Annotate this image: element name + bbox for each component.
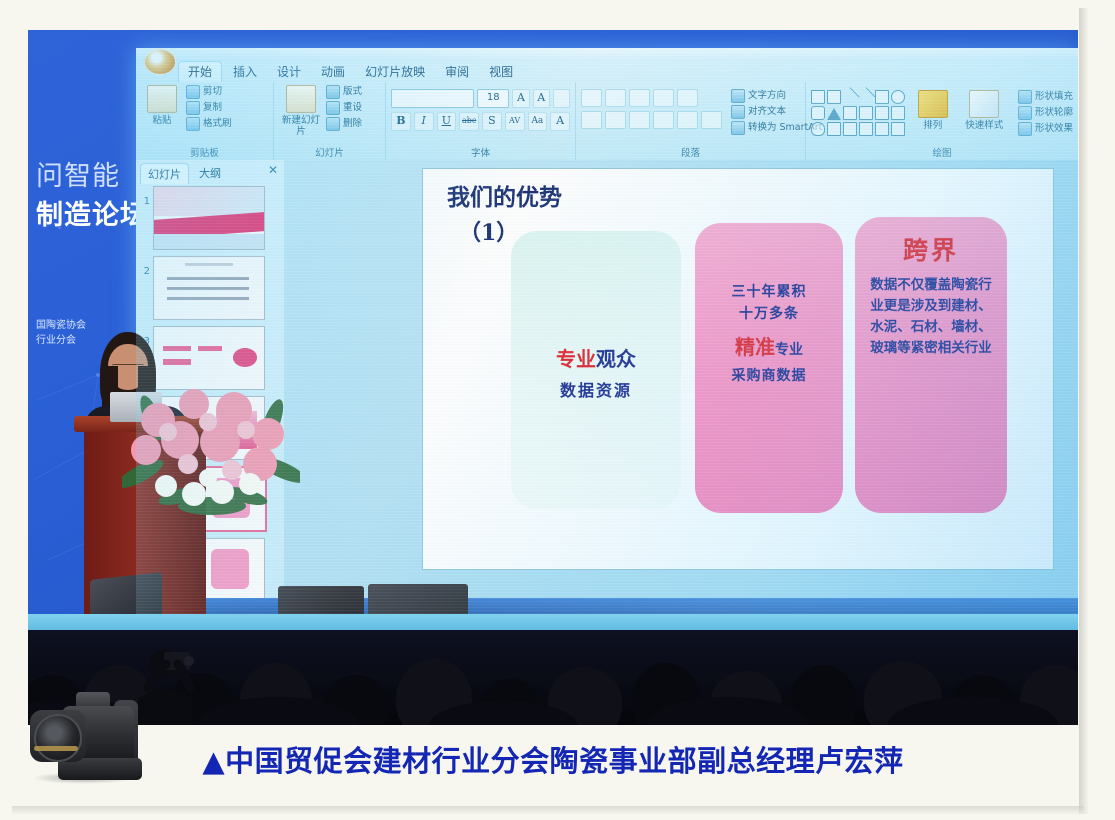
ribbon-tab-view[interactable]: 视图	[480, 62, 522, 82]
thumbnail-number: 2	[140, 256, 150, 277]
ribbon-group-clipboard: 粘贴 剪切 复制	[136, 82, 274, 160]
distribute-button[interactable]	[677, 111, 698, 129]
shape-chevron-icon[interactable]	[859, 122, 873, 136]
shape-triangle-icon[interactable]	[827, 106, 841, 120]
shape-effects-label: 形状效果	[1035, 123, 1073, 135]
ribbon-group-drawing: 排列 快速样式 形状填充	[806, 82, 1078, 160]
scissors-icon	[186, 85, 200, 99]
ribbon-group-font: 18 A A B I U abc S AV	[386, 82, 576, 160]
format-painter-button[interactable]: 格式刷	[186, 117, 232, 131]
cut-label: 剪切	[203, 86, 222, 98]
shape-freeform-icon[interactable]	[827, 122, 841, 136]
shape-outline-label: 形状轮廓	[1035, 107, 1073, 119]
photo-caption: ▲中国贸促会建材行业分会陶瓷事业部副总经理卢宏萍	[28, 728, 1078, 790]
ribbon-tab-slideshow[interactable]: 幻灯片放映	[356, 62, 434, 82]
thumbnail-preview[interactable]	[153, 186, 265, 250]
caption-text: ▲中国贸促会建材行业分会陶瓷事业部副总经理卢宏萍	[202, 738, 903, 780]
align-text-icon	[731, 105, 745, 119]
card1-subtext: 数据资源	[511, 377, 681, 401]
slide-card-professional-audience[interactable]: 专业观众 数据资源	[511, 231, 681, 509]
columns-button[interactable]	[701, 111, 722, 129]
layout-icon	[326, 85, 340, 99]
powerpoint-ribbon: 开始 插入 设计 动画 幻灯片放映 审阅 视图 粘贴	[136, 48, 1078, 160]
shape-curve-icon[interactable]	[843, 122, 857, 136]
layout-button[interactable]: 版式	[326, 85, 362, 99]
cut-button[interactable]: 剪切	[186, 85, 232, 99]
office-button-icon[interactable]	[144, 49, 176, 75]
align-text-label: 对齐文本	[748, 106, 786, 118]
shape-elbow-icon[interactable]	[843, 106, 857, 120]
conference-photograph: 问智能 制造论坛 国陶瓷协会 行业分会 开始 插入 设计 动画 幻灯片放映 审阅…	[28, 30, 1078, 725]
ribbon-tab-insert[interactable]: 插入	[224, 62, 266, 82]
align-center-button[interactable]	[605, 111, 626, 129]
camera-lens-ring	[34, 746, 78, 751]
slide-card-crossover[interactable]: 跨界 数据不仅覆盖陶瓷行业更是涉及到建材、水泥、石材、墙材、玻璃等紧密相关行业	[855, 217, 1007, 513]
paragraph-group-label: 段落	[576, 145, 805, 159]
underline-button[interactable]: U	[437, 112, 457, 131]
decrease-indent-button[interactable]	[629, 89, 650, 107]
shapes-gallery[interactable]	[811, 90, 905, 136]
delete-slide-button[interactable]: 删除	[326, 117, 362, 131]
card2-heading-red: 精准	[735, 335, 775, 359]
reset-label: 重设	[343, 102, 362, 114]
shape-cloud-icon[interactable]	[811, 122, 825, 136]
card1-heading-blue: 观众	[596, 347, 636, 371]
ribbon-group-paragraph: 文字方向 对齐文本 转换为 SmartArt	[576, 82, 806, 160]
format-painter-label: 格式刷	[203, 118, 232, 130]
quick-styles-label: 快速样式	[965, 120, 1003, 131]
font-name-input[interactable]	[391, 89, 474, 108]
shape-effects-button[interactable]: 形状效果	[1018, 122, 1073, 136]
dslr-camera-icon	[18, 684, 146, 792]
paste-label: 粘贴	[152, 115, 171, 126]
shape-right-arrow-icon[interactable]	[875, 106, 889, 120]
shape-outline-button[interactable]: 形状轮廓	[1018, 106, 1073, 120]
new-slide-icon	[286, 85, 316, 113]
frame-shadow-right	[1079, 8, 1089, 814]
smartart-icon	[731, 121, 745, 135]
slide-editing-stage: 我们的优势 （1） 专业观众 数据资源 三十年累积 十万多条 精准专业 采购商数…	[284, 160, 1078, 614]
arrange-button[interactable]: 排列	[912, 90, 954, 131]
shape-connector-icon[interactable]	[859, 106, 873, 120]
thumbnail-item[interactable]: 2	[136, 253, 284, 323]
card3-title: 跨界	[855, 231, 1007, 267]
paste-icon	[147, 85, 177, 113]
shape-fill-label: 形状填充	[1035, 91, 1073, 103]
shape-arrow-icon[interactable]	[856, 87, 876, 107]
new-slide-button[interactable]: 新建幻灯片	[279, 85, 323, 137]
shape-roundrect-icon[interactable]	[811, 106, 825, 120]
quick-styles-icon	[969, 90, 999, 118]
ribbon-group-slides: 新建幻灯片 版式 重设	[274, 82, 386, 160]
paste-button[interactable]: 粘贴	[141, 85, 183, 126]
increase-indent-button[interactable]	[653, 89, 674, 107]
paintbrush-icon	[186, 117, 200, 131]
shape-textbox-icon[interactable]	[827, 90, 841, 104]
card1-heading: 专业观众	[511, 343, 681, 372]
thumbnail-number: 1	[140, 186, 150, 207]
current-slide[interactable]: 我们的优势 （1） 专业观众 数据资源 三十年累积 十万多条 精准专业 采购商数…	[422, 168, 1054, 570]
camera-lens-glass	[34, 714, 82, 762]
card3-body: 数据不仅覆盖陶瓷行业更是涉及到建材、水泥、石材、墙材、玻璃等紧密相关行业	[855, 275, 1007, 359]
ribbon-groups: 粘贴 剪切 复制	[136, 82, 1078, 160]
character-spacing-button[interactable]: AV	[505, 112, 525, 131]
font-group-label: 字体	[386, 145, 575, 159]
text-direction-icon	[731, 89, 745, 103]
arrange-icon	[918, 90, 948, 118]
decrease-font-size-button[interactable]: A	[533, 89, 550, 108]
card1-heading-red: 专业	[556, 347, 596, 371]
card2-line-4: 采购商数据	[695, 365, 843, 385]
bold-button[interactable]: B	[391, 112, 411, 131]
bullets-button[interactable]	[581, 89, 602, 107]
clear-formatting-button[interactable]	[553, 89, 570, 108]
close-pane-icon[interactable]: ✕	[268, 163, 278, 177]
flower-arrangement	[122, 378, 300, 530]
quick-styles-button[interactable]: 快速样式	[961, 90, 1008, 131]
slide-title: 我们的优势	[447, 183, 562, 213]
change-case-button[interactable]: Aa	[528, 112, 548, 131]
font-color-button[interactable]: A	[550, 112, 570, 131]
increase-font-size-button[interactable]: A	[512, 89, 529, 108]
ribbon-tab-animations[interactable]: 动画	[312, 62, 354, 82]
card2-line-1: 三十年累积	[695, 281, 843, 301]
new-slide-label: 新建幻灯片	[279, 115, 323, 137]
arrange-label: 排列	[923, 120, 942, 131]
shape-outline-icon	[1018, 106, 1032, 120]
pane-tab-outline[interactable]: 大纲	[192, 163, 228, 183]
thumbnail-preview[interactable]	[153, 256, 265, 320]
shape-square-icon[interactable]	[875, 90, 889, 104]
delete-icon	[326, 117, 340, 131]
pane-tab-bar: 幻灯片 大纲 ✕	[136, 160, 284, 183]
strikethrough-button[interactable]: abc	[459, 112, 479, 131]
copy-icon	[186, 101, 200, 115]
shape-fill-button[interactable]: 形状填充	[1018, 90, 1073, 104]
photo-frame: 问智能 制造论坛 国陶瓷协会 行业分会 开始 插入 设计 动画 幻灯片放映 审阅…	[0, 0, 1115, 820]
italic-button[interactable]: I	[414, 112, 434, 131]
copy-label: 复制	[203, 102, 222, 114]
frame-shadow-bottom	[12, 806, 1084, 815]
shape-rect-icon[interactable]	[811, 90, 825, 104]
drawing-group-label: 绘图	[806, 145, 1078, 159]
layout-label: 版式	[343, 86, 362, 98]
shape-down-arrow-icon[interactable]	[891, 106, 905, 120]
font-size-input[interactable]: 18	[477, 89, 509, 108]
shape-right-brace-icon[interactable]	[891, 122, 905, 136]
reset-button[interactable]: 重设	[326, 101, 362, 115]
shape-oval-icon[interactable]	[891, 90, 905, 104]
slide-card-precise-buyer-data[interactable]: 三十年累积 十万多条 精准专业 采购商数据	[695, 223, 843, 513]
slides-group-label: 幻灯片	[274, 145, 385, 159]
shadow-button[interactable]: S	[482, 112, 502, 131]
align-left-button[interactable]	[581, 111, 602, 129]
reset-icon	[326, 101, 340, 115]
ribbon-tab-bar: 开始 插入 设计 动画 幻灯片放映 审阅 视图	[178, 60, 522, 82]
card2-line-2: 十万多条	[695, 303, 843, 323]
pane-tab-slides[interactable]: 幻灯片	[140, 163, 189, 184]
align-right-button[interactable]	[629, 111, 650, 129]
ribbon-tab-review[interactable]: 审阅	[436, 62, 478, 82]
numbering-button[interactable]	[605, 89, 626, 107]
shape-left-brace-icon[interactable]	[875, 122, 889, 136]
thumbnail-item[interactable]: 1	[136, 183, 284, 253]
text-direction-label: 文字方向	[748, 90, 786, 102]
clipboard-group-label: 剪贴板	[136, 145, 273, 159]
delete-label: 删除	[343, 118, 362, 130]
card2-heading-blue: 专业	[775, 342, 803, 358]
line-spacing-button[interactable]	[677, 89, 698, 107]
shape-effects-icon	[1018, 122, 1032, 136]
justify-button[interactable]	[653, 111, 674, 129]
shape-fill-icon	[1018, 90, 1032, 104]
ribbon-tab-home[interactable]: 开始	[178, 61, 222, 82]
copy-button[interactable]: 复制	[186, 101, 232, 115]
slide-subtitle: （1）	[459, 215, 518, 247]
ribbon-tab-design[interactable]: 设计	[268, 62, 310, 82]
card2-heading: 精准专业	[695, 331, 843, 360]
